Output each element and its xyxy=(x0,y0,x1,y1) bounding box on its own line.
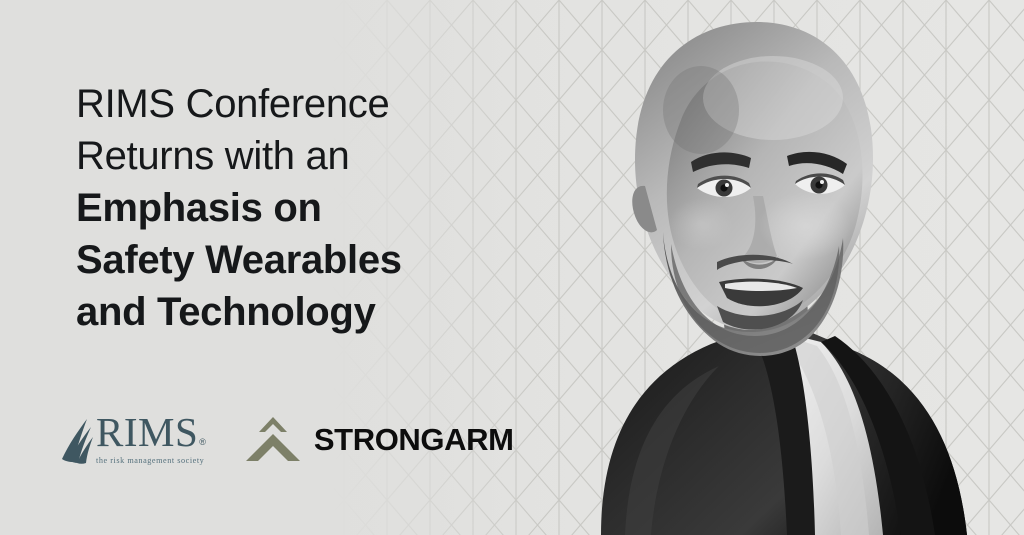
strongarm-wordmark: STRONGARM xyxy=(314,424,514,455)
rims-wordmark: RIMS xyxy=(96,412,198,453)
strongarm-chevron-icon xyxy=(246,415,300,463)
headline-line-1: RIMS Conference xyxy=(76,78,506,130)
strongarm-logo: STRONGARM xyxy=(246,415,514,463)
rims-tagline: the risk management society xyxy=(96,456,206,466)
rims-logo: RIMS ® the risk management society xyxy=(60,412,206,466)
headline-line-5: and Technology xyxy=(76,286,506,338)
headline-line-2: Returns with an xyxy=(76,130,506,182)
headline-line-4: Safety Wearables xyxy=(76,234,506,286)
page-title: RIMS Conference Returns with an Emphasis… xyxy=(76,78,506,338)
logo-lockup-row: RIMS ® the risk management society STRON… xyxy=(60,412,514,466)
rims-text-lockup: RIMS ® the risk management society xyxy=(96,412,206,466)
speaker-portrait xyxy=(505,0,1024,535)
registered-trademark-icon: ® xyxy=(199,438,206,447)
rims-swoosh-icon xyxy=(60,418,94,464)
headline-line-3: Emphasis on xyxy=(76,182,506,234)
marketing-banner: RIMS Conference Returns with an Emphasis… xyxy=(0,0,1024,535)
